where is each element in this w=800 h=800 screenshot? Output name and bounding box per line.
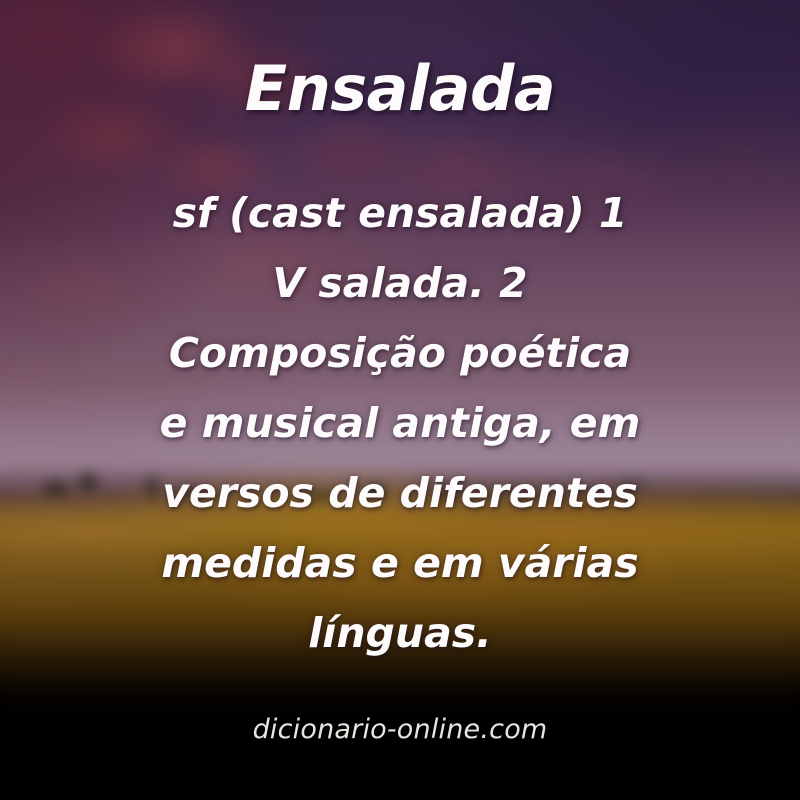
- definition-text: sf (cast ensalada) 1 V salada. 2 Composi…: [130, 178, 670, 668]
- definition-line: Composição poética: [130, 318, 670, 388]
- definition-line: línguas.: [130, 598, 670, 668]
- page-title: Ensalada: [100, 56, 700, 121]
- definition-line: versos de diferentes: [130, 458, 670, 528]
- definition-line: sf (cast ensalada) 1: [130, 178, 670, 248]
- definition-line: e musical antiga, em: [130, 388, 670, 458]
- site-watermark: dicionario-online.com: [0, 714, 800, 745]
- card-content: Ensalada sf (cast ensalada) 1 V salada. …: [0, 0, 800, 800]
- definition-line: medidas e em várias: [130, 528, 670, 598]
- dictionary-word-card: Ensalada sf (cast ensalada) 1 V salada. …: [0, 0, 800, 800]
- definition-line: V salada. 2: [130, 248, 670, 318]
